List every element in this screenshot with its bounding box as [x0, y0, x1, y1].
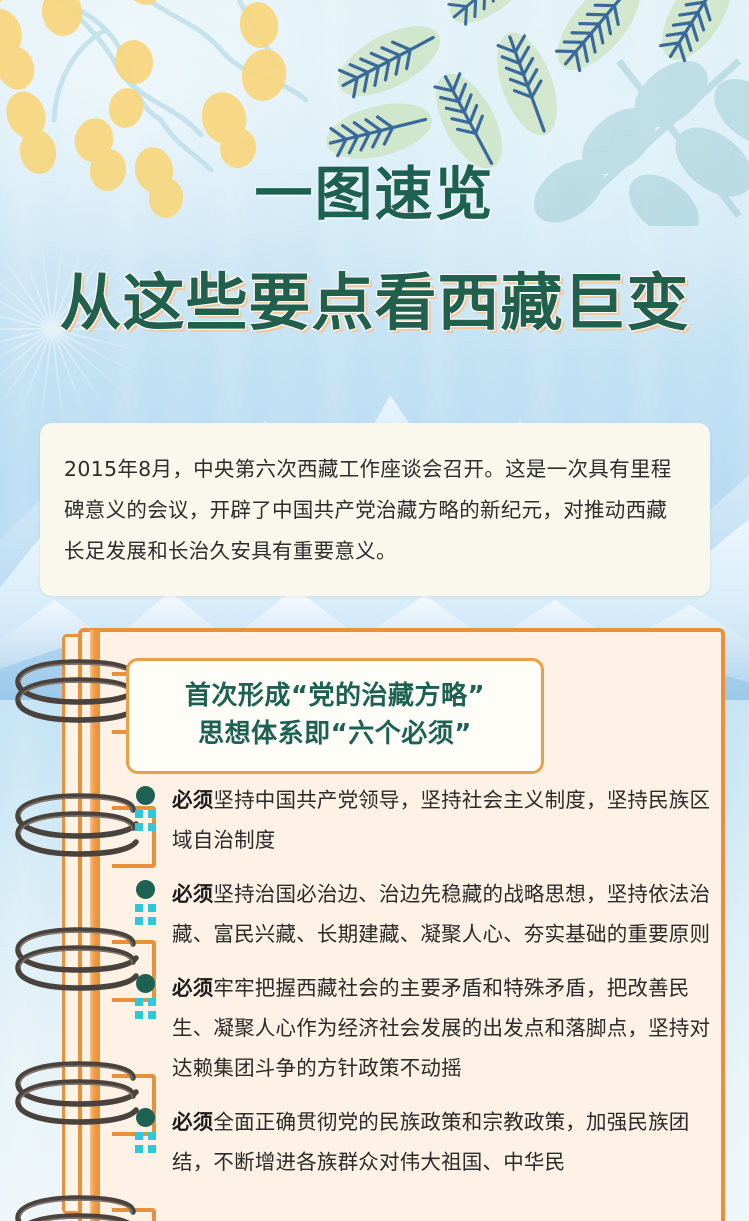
notebook-spine — [90, 630, 100, 1221]
bullet-list: 必须坚持中国共产党领导，坚持社会主义制度，坚持民族区域自治制度必须坚持治国必治边… — [118, 780, 713, 1196]
bullet-item: 必须全面正确贯彻党的民族政策和宗教政策，加强民族团结，不断增进各族群众对伟大祖国… — [118, 1102, 713, 1182]
bullet-text: 必须牢牢把握西藏社会的主要矛盾和特殊矛盾，把改善民生、凝聚人心作为经济社会发展的… — [172, 968, 713, 1088]
bullet-squares-icon — [135, 904, 156, 925]
intro-card: 2015年8月，中央第六次西藏工作座谈会召开。这是一次具有里程碑意义的会议，开辟… — [40, 423, 710, 596]
intro-paragraph: 2015年8月，中央第六次西藏工作座谈会召开。这是一次具有里程碑意义的会议，开辟… — [64, 449, 686, 572]
bullet-rest-text: 坚持治国必治边、治边先稳藏的战略思想，坚持依法治藏、富民兴藏、长期建藏、凝聚人心… — [172, 882, 710, 946]
bullet-marker-icon — [118, 780, 172, 860]
bullet-dot-icon — [136, 786, 155, 805]
page-title-sub: 从这些要点看西藏巨变 — [0, 252, 749, 342]
bullet-text: 必须坚持中国共产党领导，坚持社会主义制度，坚持民族区域自治制度 — [172, 780, 713, 860]
bullet-lead-word: 必须 — [172, 1110, 213, 1134]
binding-notch — [112, 1208, 156, 1221]
bullet-marker-icon — [118, 1102, 172, 1182]
bullet-lead-word: 必须 — [172, 976, 213, 1000]
section-headline-box: 首次形成“党的治藏方略” 思想体系即“六个必须” — [126, 658, 544, 774]
bullet-rest-text: 坚持中国共产党领导，坚持社会主义制度，坚持民族区域自治制度 — [172, 788, 710, 852]
bullet-text: 必须坚持治国必治边、治边先稳藏的战略思想，坚持依法治藏、富民兴藏、长期建藏、凝聚… — [172, 874, 713, 954]
bullet-lead-word: 必须 — [172, 882, 213, 906]
bullet-squares-icon — [135, 998, 156, 1019]
bullet-text: 必须全面正确贯彻党的民族政策和宗教政策，加强民族团结，不断增进各族群众对伟大祖国… — [172, 1102, 713, 1182]
bullet-lead-word: 必须 — [172, 788, 213, 812]
notebook-section: 首次形成“党的治藏方略” 思想体系即“六个必须” 必须坚持中国共产党领导，坚持社… — [0, 628, 749, 1221]
infographic-poster: 一图速览 从这些要点看西藏巨变 2015年8月，中央第六次西藏工作座谈会召开。这… — [0, 0, 749, 1221]
bullet-marker-icon — [118, 874, 172, 954]
bullet-dot-icon — [136, 974, 155, 993]
bullet-item: 必须坚持中国共产党领导，坚持社会主义制度，坚持民族区域自治制度 — [118, 780, 713, 860]
bullet-item: 必须坚持治国必治边、治边先稳藏的战略思想，坚持依法治藏、富民兴藏、长期建藏、凝聚… — [118, 874, 713, 954]
bullet-rest-text: 全面正确贯彻党的民族政策和宗教政策，加强民族团结，不断增进各族群众对伟大祖国、中… — [172, 1110, 690, 1174]
bullet-marker-icon — [118, 968, 172, 1088]
bullet-squares-icon — [135, 810, 156, 831]
bullet-item: 必须牢牢把握西藏社会的主要矛盾和特殊矛盾，把改善民生、凝聚人心作为经济社会发展的… — [118, 968, 713, 1088]
page-title-main: 一图速览 — [0, 147, 749, 231]
section-headline-line2: 思想体系即“六个必须” — [143, 715, 527, 753]
bullet-dot-icon — [136, 880, 155, 899]
bullet-dot-icon — [136, 1108, 155, 1127]
bullet-rest-text: 牢牢把握西藏社会的主要矛盾和特殊矛盾，把改善民生、凝聚人心作为经济社会发展的出发… — [172, 976, 710, 1080]
bullet-squares-icon — [135, 1132, 156, 1153]
section-headline-line1: 首次形成“党的治藏方略” — [143, 677, 527, 715]
